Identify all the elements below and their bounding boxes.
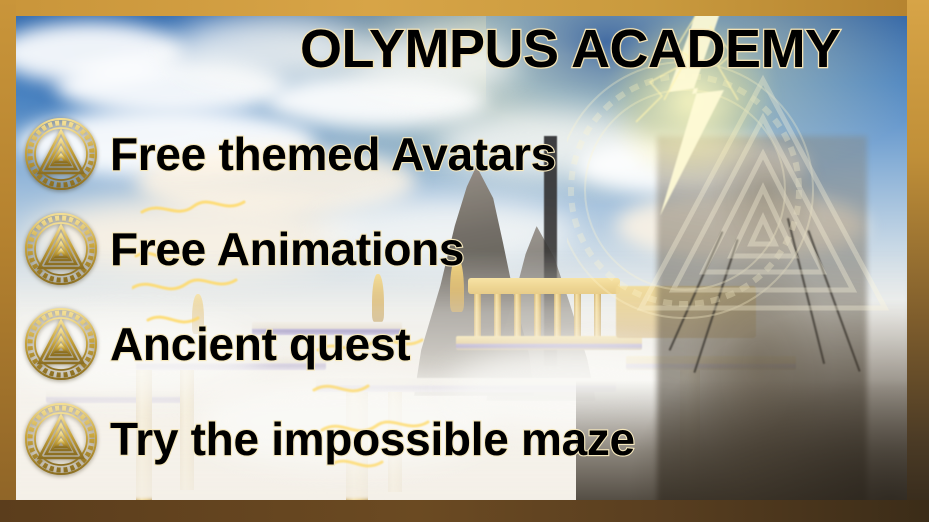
list-item: Free Animations [24,201,904,296]
olympus-medallion-icon [24,117,98,191]
list-item: Try the impossible maze [24,391,904,486]
list-item-label: Free Animations [110,222,464,276]
olympus-academy-banner: OLYMPUS ACADEMY [0,0,929,522]
content-layer: OLYMPUS ACADEMY [0,0,929,522]
list-item-label: Ancient quest [110,317,410,371]
page-title: OLYMPUS ACADEMY [300,18,841,80]
olympus-medallion-icon [24,212,98,286]
feature-list: Free themed Avatars [24,106,904,486]
olympus-medallion-icon [24,402,98,476]
list-item: Free themed Avatars [24,106,904,201]
olympus-medallion-icon [24,307,98,381]
list-item-label: Free themed Avatars [110,127,556,181]
list-item: Ancient quest [24,296,904,391]
list-item-label: Try the impossible maze [110,412,635,466]
